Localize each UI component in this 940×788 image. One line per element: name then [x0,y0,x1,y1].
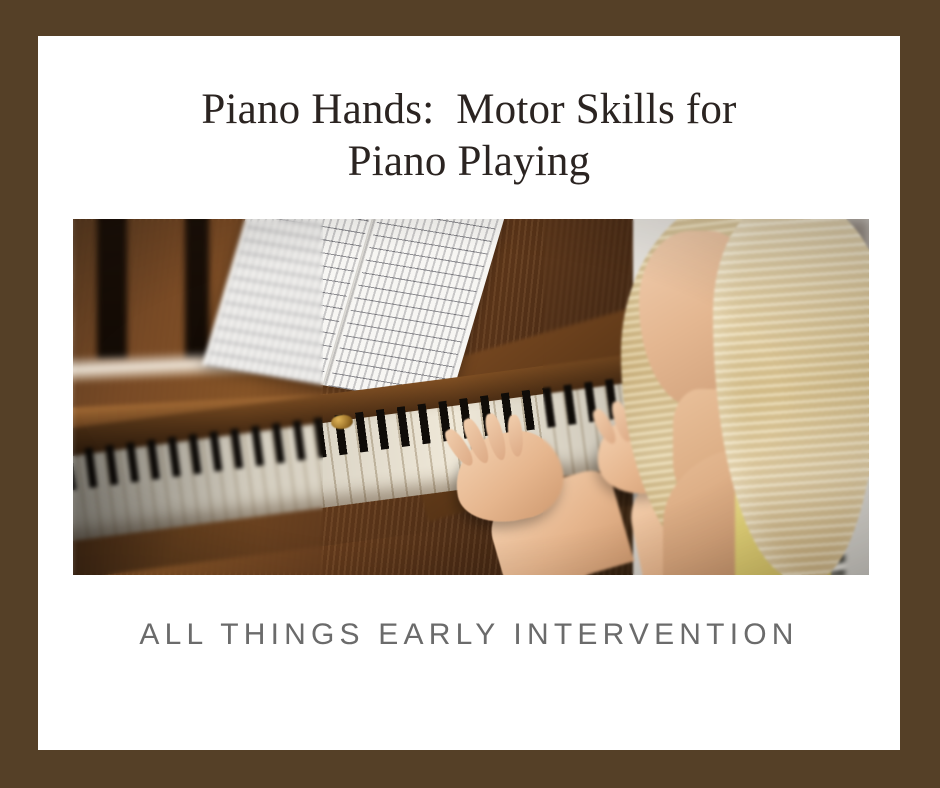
page-title: Piano Hands: Motor Skills for Piano Play… [38,84,900,188]
footer: ALL THINGS EARLY INTERVENTION [38,618,900,652]
title-line-2: Piano Playing [38,136,900,188]
piano-dark-band [185,219,209,359]
piano-dark-band [97,219,127,359]
title-line-1: Piano Hands: Motor Skills for [38,84,900,136]
footer-text: ALL THINGS EARLY INTERVENTION [38,618,900,652]
photo-illustration [73,219,869,575]
poster-canvas: Piano Hands: Motor Skills for Piano Play… [0,0,940,788]
white-card: Piano Hands: Motor Skills for Piano Play… [38,36,900,750]
hero-photo [73,219,869,575]
